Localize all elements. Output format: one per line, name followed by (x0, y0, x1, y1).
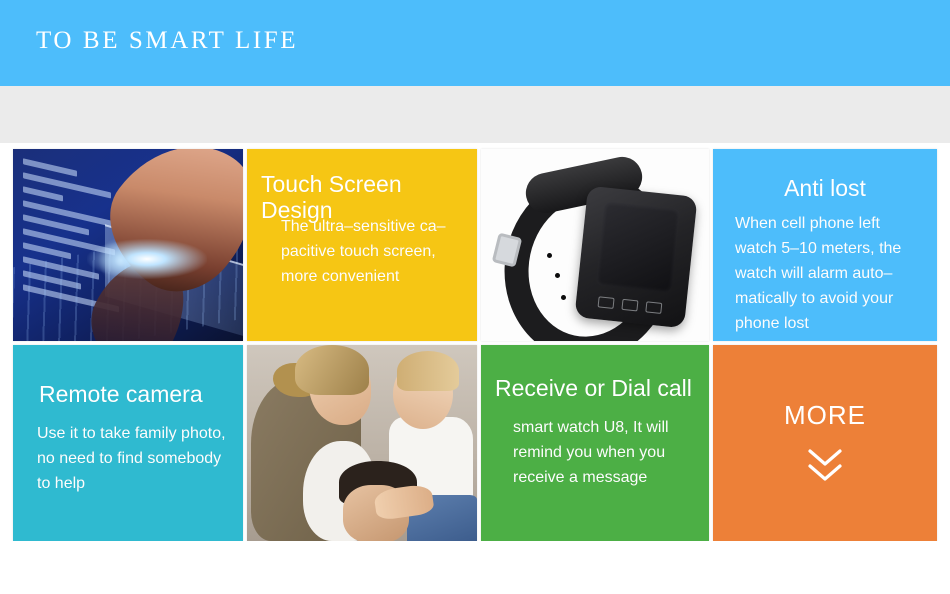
child-hair (397, 351, 459, 391)
card-touchscreen-photo (13, 149, 243, 341)
page-title: TO BE SMART LIFE (36, 27, 298, 55)
footer-spacer (0, 541, 950, 594)
card-title: Remote camera (39, 381, 203, 407)
mother-hair (295, 345, 369, 395)
feature-grid: Touch Screen Design The ultra–sensitive … (13, 149, 937, 541)
more-label: MORE (784, 400, 866, 431)
card-title: Anti lost (713, 175, 937, 201)
family-image (247, 345, 477, 541)
card-body: smart watch U8, It will remind you when … (513, 415, 703, 490)
card-family-photo (247, 345, 477, 541)
smartwatch-image (481, 149, 709, 341)
touchscreen-image (13, 149, 243, 341)
card-body: The ultra–sensitive ca–pacitive touch sc… (281, 214, 471, 289)
card-body: When cell phone left watch 5–10 meters, … (735, 211, 925, 336)
more-button[interactable]: MORE (713, 345, 937, 541)
page-header: TO BE SMART LIFE (0, 0, 950, 86)
card-anti-lost[interactable]: Anti lost When cell phone left watch 5–1… (713, 149, 937, 341)
light-flare (87, 239, 207, 279)
card-body: Use it to take family photo, no need to … (37, 421, 237, 496)
watch-screen (596, 201, 680, 292)
product-feature-banner: TO BE SMART LIFE (0, 0, 950, 594)
double-chevron-down-icon[interactable] (802, 445, 848, 487)
card-title: Receive or Dial call (495, 375, 692, 401)
header-spacer-band (0, 86, 950, 143)
card-touch-screen-design[interactable]: Touch Screen Design The ultra–sensitive … (247, 149, 477, 341)
watch-case (574, 186, 697, 329)
card-receive-or-dial-call[interactable]: Receive or Dial call smart watch U8, It … (481, 345, 709, 541)
card-watch-photo (481, 149, 709, 341)
card-remote-camera[interactable]: Remote camera Use it to take family phot… (13, 345, 243, 541)
